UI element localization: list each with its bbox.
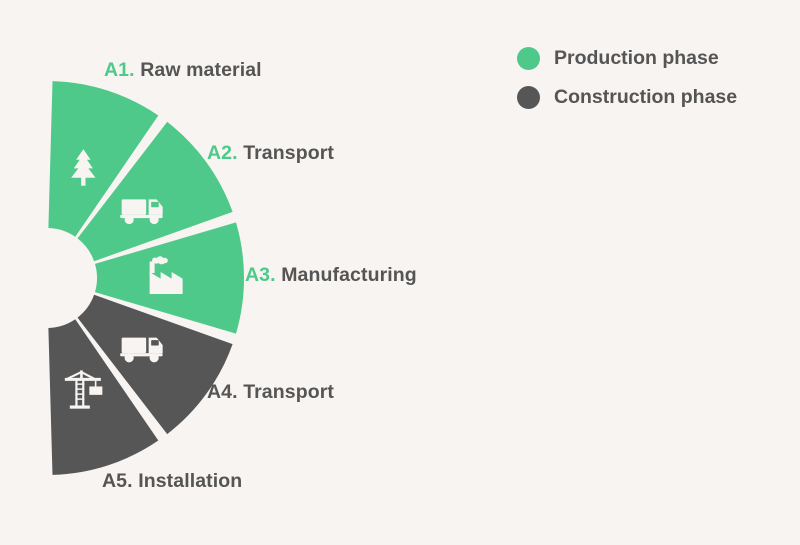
segment-code-a1: A1. (104, 59, 135, 81)
segment-label-a1: A1. Raw material (104, 59, 262, 82)
legend-item-production: Production phase (517, 47, 737, 70)
segment-name-a3: Manufacturing (281, 264, 417, 286)
segment-code-a3: A3. (245, 264, 276, 286)
segment-label-a4: A4. Transport (207, 381, 334, 404)
segment-name-a2: Transport (243, 142, 334, 164)
segment-label-a3: A3. Manufacturing (245, 264, 417, 287)
segment-name-a4: Transport (243, 381, 334, 403)
legend-label-production: Production phase (554, 47, 719, 70)
circle-dot-icon (517, 86, 540, 109)
segment-code-a4: A4. (207, 381, 238, 403)
segment-code-a2: A2. (207, 142, 238, 164)
legend: Production phase Construction phase (517, 47, 737, 109)
segment-code-a5: A5. (102, 470, 133, 492)
circle-dot-icon (517, 47, 540, 70)
segment-name-a1: Raw material (140, 59, 262, 81)
segment-label-a5: A5. Installation (102, 470, 242, 493)
segment-name-a5: Installation (138, 470, 242, 492)
legend-label-construction: Construction phase (554, 86, 737, 109)
lifecycle-fan-diagram: A1. Raw material A2. Transport A3. Manuf… (0, 0, 800, 545)
fan-segment-group (48, 81, 244, 475)
segment-label-a2: A2. Transport (207, 142, 334, 165)
legend-item-construction: Construction phase (517, 86, 737, 109)
